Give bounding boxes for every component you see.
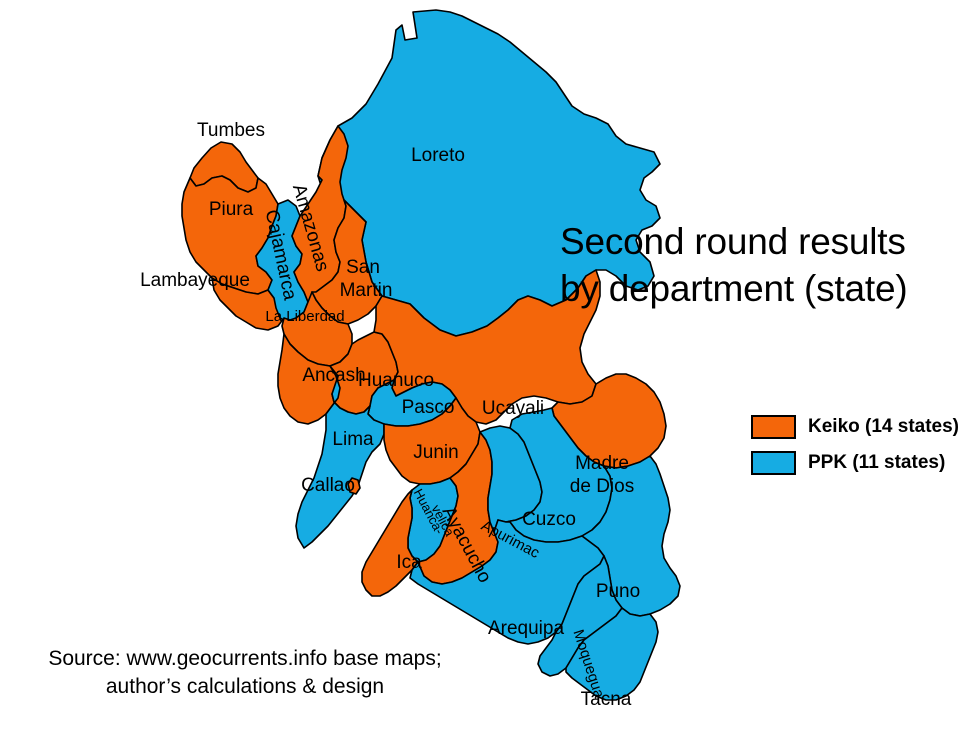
- label-san-martin-line2: Martin: [340, 280, 393, 301]
- legend-label-ppk: PPK (11 states): [808, 452, 945, 474]
- label-ancash: Ancash: [302, 365, 365, 386]
- label-la-liberdad: La Liberdad: [265, 308, 344, 325]
- legend-swatch-keiko: [751, 415, 796, 439]
- label-cuzco: Cuzco: [522, 509, 576, 530]
- map-figure: Loreto Piura Cajamarca Amazonas San Mart…: [0, 0, 975, 731]
- source-line-1: Source: www.geocurrents.info base maps;: [45, 645, 445, 673]
- legend-label-keiko: Keiko (14 states): [808, 416, 959, 438]
- peru-department-map[interactable]: Loreto Piura Cajamarca Amazonas San Mart…: [0, 0, 975, 731]
- label-madre-de-dios-line2: de Dios: [570, 476, 634, 497]
- label-junin: Junin: [413, 442, 458, 463]
- label-ica: Ica: [396, 552, 422, 573]
- label-san-martin-line1: San: [346, 257, 380, 278]
- label-piura: Piura: [209, 199, 254, 220]
- label-pasco: Pasco: [402, 397, 455, 418]
- label-lima: Lima: [332, 429, 374, 450]
- legend-item-ppk[interactable]: PPK (11 states): [751, 451, 959, 475]
- title-line-1: Second round results: [560, 218, 960, 265]
- legend-item-keiko[interactable]: Keiko (14 states): [751, 415, 959, 439]
- label-loreto: Loreto: [411, 145, 465, 166]
- title-line-2: by department (state): [560, 265, 960, 312]
- label-madre-de-dios-line1: Madre: [575, 453, 629, 474]
- page-title: Second round results by department (stat…: [560, 218, 960, 313]
- label-huanuco: Huanuco: [358, 370, 434, 391]
- label-arequipa: Arequipa: [488, 618, 564, 639]
- label-puno: Puno: [596, 581, 640, 602]
- source-line-2: author’s calculations & design: [45, 673, 445, 701]
- label-ucayali: Ucayali: [482, 398, 544, 419]
- label-lambayeque: Lambayeque: [140, 270, 250, 291]
- legend: Keiko (14 states) PPK (11 states): [751, 415, 959, 487]
- legend-swatch-ppk: [751, 451, 796, 475]
- label-tacna: Tacna: [581, 689, 632, 710]
- label-tumbes: Tumbes: [197, 120, 265, 141]
- label-callao: Callao: [301, 475, 355, 496]
- source-note: Source: www.geocurrents.info base maps; …: [45, 645, 445, 702]
